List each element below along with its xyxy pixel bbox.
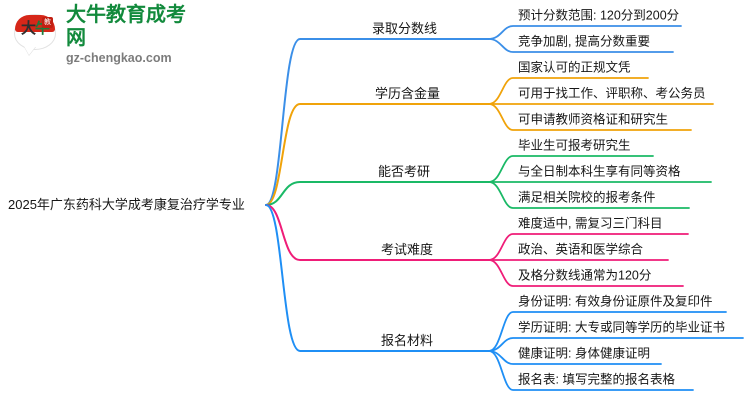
branch-label-3[interactable]: 能否考研 xyxy=(378,165,430,178)
leaf-label-5-2[interactable]: 学历证明: 大专或同等学历的毕业证书 xyxy=(518,322,725,335)
leaf-label-3-2[interactable]: 与全日制本科生享有同等资格 xyxy=(518,166,681,179)
branch-label-4[interactable]: 考试难度 xyxy=(381,243,433,256)
leaf-label-5-3[interactable]: 健康证明: 身体健康证明 xyxy=(518,348,650,361)
leaf-label-3-1[interactable]: 毕业生可报考研究生 xyxy=(518,140,631,153)
leaf-label-4-1[interactable]: 难度适中, 需复习三门科目 xyxy=(518,218,662,231)
leaf-label-2-1[interactable]: 国家认可的正规文凭 xyxy=(518,62,631,75)
leaf-label-3-3[interactable]: 满足相关院校的报考条件 xyxy=(518,192,656,205)
leaf-label-5-4[interactable]: 报名表: 填写完整的报名表格 xyxy=(518,374,675,387)
leaf-label-5-1[interactable]: 身份证明: 有效身份证原件及复印件 xyxy=(518,296,712,309)
leaf-label-4-2[interactable]: 政治、英语和医学综合 xyxy=(518,244,643,257)
branch-label-5[interactable]: 报名材料 xyxy=(381,334,433,347)
mindmap-root-label: 2025年广东药科大学成考康复治疗学专业 xyxy=(8,198,245,211)
branch-label-2[interactable]: 学历含金量 xyxy=(375,87,440,100)
leaf-label-1-2[interactable]: 竞争加剧, 提高分数重要 xyxy=(518,36,650,49)
leaf-label-1-1[interactable]: 预计分数范围: 120分到200分 xyxy=(518,10,679,23)
leaf-label-2-3[interactable]: 可申请教师资格证和研究生 xyxy=(518,114,668,127)
branch-label-1[interactable]: 录取分数线 xyxy=(372,22,437,35)
leaf-label-4-3[interactable]: 及格分数线通常为120分 xyxy=(518,270,651,283)
leaf-label-2-2[interactable]: 可用于找工作、评职称、考公务员 xyxy=(518,88,706,101)
